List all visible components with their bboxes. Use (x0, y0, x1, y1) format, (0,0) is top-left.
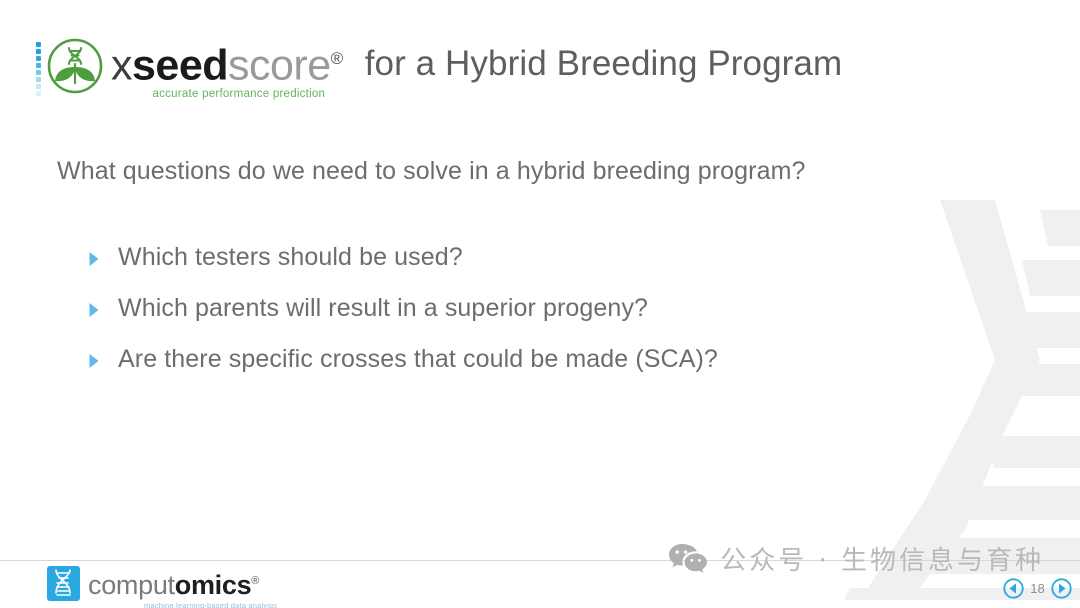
wordmark-comput: comput (88, 570, 175, 600)
xseedscore-wordmark: xseedscore® accurate performance predict… (111, 37, 343, 100)
slide-canvas: xseedscore® accurate performance predict… (0, 0, 1080, 608)
watermark-text: 公众号 · 生物信息与育种 (720, 540, 1044, 577)
computomics-logo: computomics® machine learning-based data… (47, 566, 277, 608)
logo-tagline: accurate performance prediction (111, 88, 343, 100)
list-item: Are there specific crosses that could be… (86, 345, 946, 374)
page-number: 18 (1030, 581, 1045, 596)
xseedscore-logo: xseedscore® accurate performance predict… (36, 34, 343, 100)
list-item-label: Are there specific crosses that could be… (118, 345, 718, 374)
wordmark-seed: seed (132, 41, 228, 89)
computomics-dna-mark-icon (47, 566, 80, 601)
list-item: Which parents will result in a superior … (86, 294, 946, 323)
list-item-label: Which testers should be used? (118, 243, 463, 272)
computomics-wordmark-line: computomics® (88, 568, 277, 599)
bullet-list: Which testers should be used? Which pare… (86, 243, 946, 396)
wordmark-omics: omics (175, 570, 252, 600)
logo-dots-icon (36, 34, 41, 96)
next-slide-button[interactable] (1051, 578, 1072, 599)
page-title: for a Hybrid Breeding Program (365, 44, 843, 84)
wechat-icon (668, 543, 708, 575)
list-item-label: Which parents will result in a superior … (118, 294, 648, 323)
registered-mark: ® (331, 49, 343, 68)
page-navigation: 18 (1003, 578, 1072, 599)
seed-dna-emblem-icon (46, 37, 104, 95)
computomics-tagline: machine learning-based data analysis (88, 601, 277, 608)
computomics-wordmark: computomics® machine learning-based data… (88, 568, 277, 608)
list-item: Which testers should be used? (86, 243, 946, 272)
wechat-watermark: 公众号 · 生物信息与育种 (668, 540, 1044, 577)
registered-mark: ® (251, 575, 259, 587)
wordmark-score: score (228, 41, 331, 89)
lead-question: What questions do we need to solve in a … (57, 157, 806, 186)
bullet-triangle-icon (86, 252, 102, 266)
previous-slide-button[interactable] (1003, 578, 1024, 599)
bullet-triangle-icon (86, 354, 102, 368)
wordmark-line: xseedscore® (111, 37, 343, 87)
slide-header: xseedscore® accurate performance predict… (36, 34, 842, 100)
wordmark-x: x (111, 41, 132, 89)
bullet-triangle-icon (86, 303, 102, 317)
